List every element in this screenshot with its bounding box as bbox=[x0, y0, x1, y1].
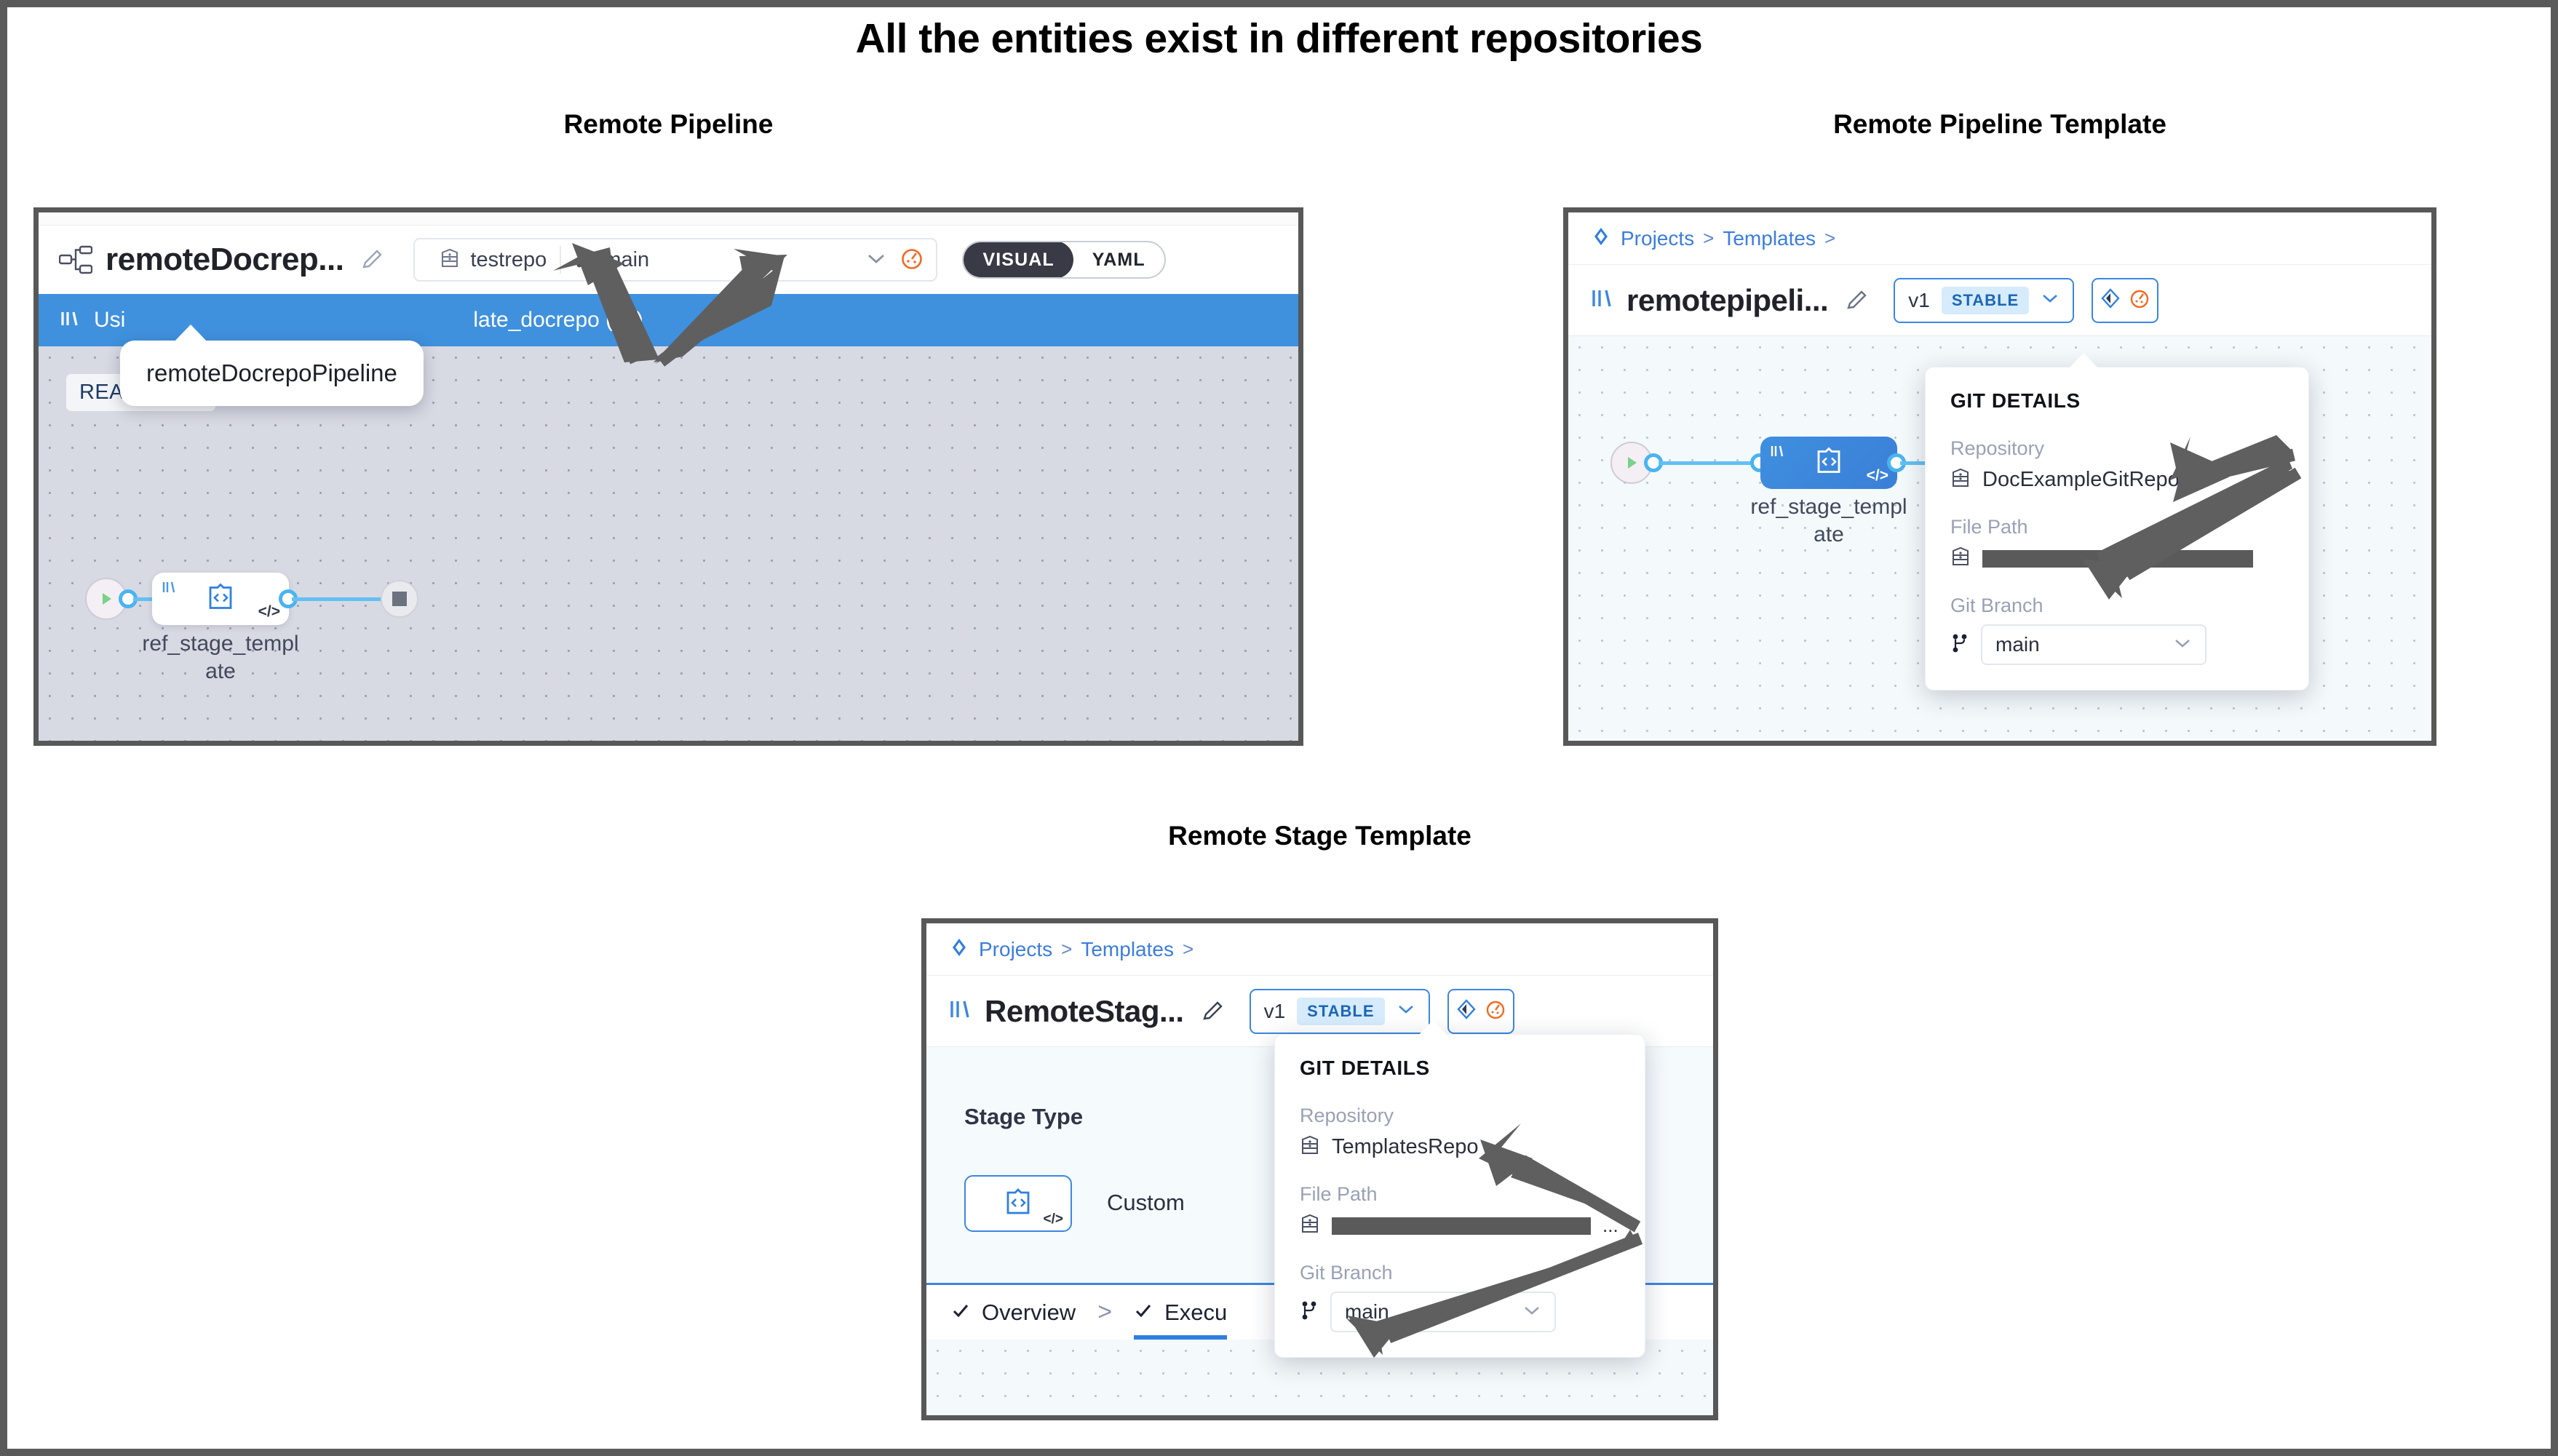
custom-stage-icon bbox=[1814, 446, 1843, 480]
repository-label: Repository bbox=[1300, 1105, 1620, 1127]
code-marker: </> bbox=[258, 603, 280, 621]
chevron-down-icon[interactable] bbox=[866, 252, 886, 268]
template-banner: Usi late_docrepo (v1) bbox=[39, 294, 1298, 346]
pipeline-name: remoteDocrep... bbox=[106, 242, 343, 278]
breadcrumb-separator-2: > bbox=[1824, 227, 1835, 250]
tab-execution[interactable]: Execu bbox=[1134, 1285, 1227, 1340]
repository-icon bbox=[1950, 546, 1971, 571]
repo-branch-selector[interactable]: testrepo main bbox=[413, 238, 937, 282]
check-icon bbox=[1134, 1300, 1153, 1326]
harness-icon bbox=[1485, 998, 1506, 1024]
code-marker: </> bbox=[1044, 1212, 1063, 1228]
repository-row: DocExampleGitRepo bbox=[1950, 467, 2284, 493]
tab-overview[interactable]: Overview bbox=[951, 1285, 1076, 1340]
stability-badge: STABLE bbox=[1942, 287, 2029, 314]
template-name: remotepipeli... bbox=[1626, 283, 1828, 318]
template-name: RemoteStag... bbox=[985, 994, 1184, 1029]
git-details-title: GIT DETAILS bbox=[1950, 389, 2284, 413]
custom-stage-icon bbox=[206, 582, 235, 616]
code-marker: </> bbox=[1867, 467, 1888, 485]
repository-value: DocExampleGitRepo bbox=[1982, 468, 2180, 492]
chevron-down-icon[interactable] bbox=[2041, 293, 2059, 308]
pencil-icon[interactable] bbox=[360, 247, 384, 272]
file-path-ellipsis: ... bbox=[1602, 1214, 1618, 1237]
template-bars-icon bbox=[161, 579, 177, 599]
pipeline-icon bbox=[59, 245, 92, 274]
projects-icon bbox=[1590, 226, 1612, 251]
stage-type-value: Custom bbox=[1107, 1190, 1185, 1216]
repo-segment[interactable]: testrepo bbox=[426, 247, 560, 273]
git-branch-icon bbox=[574, 247, 593, 273]
git-branch-label: Git Branch bbox=[1300, 1262, 1620, 1284]
caption-remote-pipeline: Remote Pipeline bbox=[33, 109, 1303, 140]
file-path-redacted-value bbox=[1982, 550, 2253, 568]
tab-separator: > bbox=[1097, 1298, 1112, 1326]
pencil-icon[interactable] bbox=[1200, 999, 1225, 1024]
breadcrumb-separator-2: > bbox=[1183, 938, 1193, 960]
version-value: v1 bbox=[1264, 1000, 1286, 1023]
slide-title: All the entities exist in different repo… bbox=[0, 15, 2558, 63]
file-path-label: File Path bbox=[1300, 1183, 1620, 1206]
stage-node-label: ref_stage_template bbox=[1741, 493, 1916, 548]
harness-icon[interactable] bbox=[899, 246, 924, 274]
custom-stage-icon bbox=[1004, 1187, 1033, 1221]
repository-icon bbox=[440, 247, 460, 273]
git-diamond-icon bbox=[2100, 287, 2121, 313]
git-branch-label: Git Branch bbox=[1950, 594, 2284, 617]
edge-start-to-stage bbox=[1659, 461, 1757, 465]
template-bars-icon bbox=[948, 997, 973, 1025]
pipeline-end-node[interactable] bbox=[381, 580, 418, 618]
git-diamond-icon bbox=[1455, 998, 1477, 1024]
git-branch-value: main bbox=[1345, 1300, 1389, 1324]
breadcrumb-item-templates[interactable]: Templates bbox=[1723, 227, 1816, 250]
branch-value: main bbox=[603, 248, 649, 272]
tab-overview-label: Overview bbox=[982, 1300, 1076, 1326]
git-branch-select[interactable]: main bbox=[1330, 1292, 1556, 1332]
file-path-redacted-value bbox=[1332, 1217, 1591, 1235]
template-header: remotepipeli... v1 STABLE bbox=[1568, 265, 2431, 336]
git-branch-row: main bbox=[1950, 624, 2284, 665]
git-details-popover: GIT DETAILS Repository DocExampleGitRepo… bbox=[1925, 367, 2309, 691]
pipeline-canvas[interactable]: READ ONLY </> ref_stage_tem bbox=[39, 346, 1298, 746]
stage-node-ref-stage-template[interactable]: </> bbox=[1760, 437, 1897, 489]
stage-node-ref-stage-template[interactable]: </> bbox=[152, 573, 289, 625]
tab-yaml[interactable]: YAML bbox=[1073, 242, 1164, 277]
stage-type-custom-card[interactable]: </> bbox=[964, 1175, 1072, 1232]
breadcrumb: Projects > Templates > bbox=[1568, 212, 2431, 265]
edge-stage-to-end bbox=[292, 597, 386, 601]
tab-visual[interactable]: VISUAL bbox=[964, 241, 1073, 279]
pipeline-name-tooltip: remoteDocrepoPipeline bbox=[120, 341, 424, 406]
git-details-popover: GIT DETAILS Repository TemplatesRepo Fil… bbox=[1274, 1034, 1645, 1358]
stage-node-label: ref_stage_template bbox=[133, 630, 308, 685]
stability-badge: STABLE bbox=[1297, 998, 1384, 1025]
git-branch-icon bbox=[1950, 632, 1969, 658]
version-selector[interactable]: v1 STABLE bbox=[1250, 989, 1430, 1034]
git-details-button[interactable] bbox=[1447, 989, 1514, 1034]
caption-remote-stage-template: Remote Stage Template bbox=[921, 821, 1718, 851]
git-branch-row: main bbox=[1300, 1292, 1620, 1332]
breadcrumb: Projects > Templates > bbox=[926, 923, 1713, 976]
caption-remote-pipeline-template: Remote Pipeline Template bbox=[1563, 109, 2436, 140]
template-bars-icon bbox=[1590, 286, 1615, 314]
tooltip-text: remoteDocrepoPipeline bbox=[146, 359, 397, 386]
check-icon bbox=[951, 1300, 970, 1326]
repository-row: TemplatesRepo bbox=[1300, 1134, 1620, 1160]
remote-stage-template-screenshot: Projects > Templates > RemoteStag... v1 … bbox=[921, 918, 1718, 1420]
breadcrumb-item-projects[interactable]: Projects bbox=[1621, 227, 1694, 250]
chevron-down-icon[interactable] bbox=[1397, 1003, 1415, 1019]
breadcrumb-item-templates[interactable]: Templates bbox=[1081, 938, 1174, 961]
repository-icon bbox=[1300, 1213, 1320, 1238]
view-mode-toggle[interactable]: VISUAL YAML bbox=[962, 241, 1165, 279]
tab-execution-label: Execu bbox=[1164, 1300, 1227, 1326]
projects-icon bbox=[948, 936, 970, 962]
breadcrumb-separator: > bbox=[1061, 938, 1072, 960]
repository-value: TemplatesRepo bbox=[1332, 1135, 1479, 1159]
branch-segment[interactable]: main bbox=[561, 247, 662, 273]
stage-type-label: Stage Type bbox=[964, 1104, 1083, 1130]
pencil-icon[interactable] bbox=[1844, 288, 1869, 313]
git-branch-value: main bbox=[1995, 633, 2040, 656]
chevron-down-icon[interactable] bbox=[2173, 637, 2192, 653]
repository-icon bbox=[1300, 1134, 1320, 1160]
version-value: v1 bbox=[1908, 289, 1930, 312]
template-bars-icon bbox=[1769, 443, 1785, 463]
file-path-row bbox=[1950, 546, 2284, 571]
breadcrumb-separator: > bbox=[1703, 227, 1714, 250]
remote-pipeline-template-screenshot: Projects > Templates > remotepipeli... v… bbox=[1563, 207, 2436, 746]
git-branch-select[interactable]: main bbox=[1981, 624, 2207, 665]
git-branch-icon bbox=[1300, 1300, 1319, 1325]
banner-text-left: Usi bbox=[94, 308, 125, 333]
repository-icon bbox=[1950, 467, 1971, 493]
template-bars-icon bbox=[59, 308, 81, 333]
browser-strip bbox=[39, 212, 1298, 226]
pipeline-header: remoteDocrep... testrepo bbox=[39, 226, 1298, 294]
repository-label: Repository bbox=[1950, 437, 2284, 460]
remote-pipeline-screenshot: remoteDocrep... testrepo bbox=[33, 207, 1303, 746]
banner-text-right: late_docrepo (v1) bbox=[473, 308, 643, 333]
git-details-button[interactable] bbox=[2092, 278, 2158, 323]
git-details-title: GIT DETAILS bbox=[1300, 1057, 1620, 1080]
version-selector[interactable]: v1 STABLE bbox=[1894, 278, 2074, 323]
repo-value: testrepo bbox=[470, 248, 547, 272]
file-path-row: ... bbox=[1300, 1213, 1620, 1238]
chevron-down-icon[interactable] bbox=[1522, 1305, 1541, 1320]
harness-icon bbox=[2129, 287, 2150, 313]
file-path-label: File Path bbox=[1950, 516, 2284, 538]
breadcrumb-item-projects[interactable]: Projects bbox=[979, 938, 1052, 961]
